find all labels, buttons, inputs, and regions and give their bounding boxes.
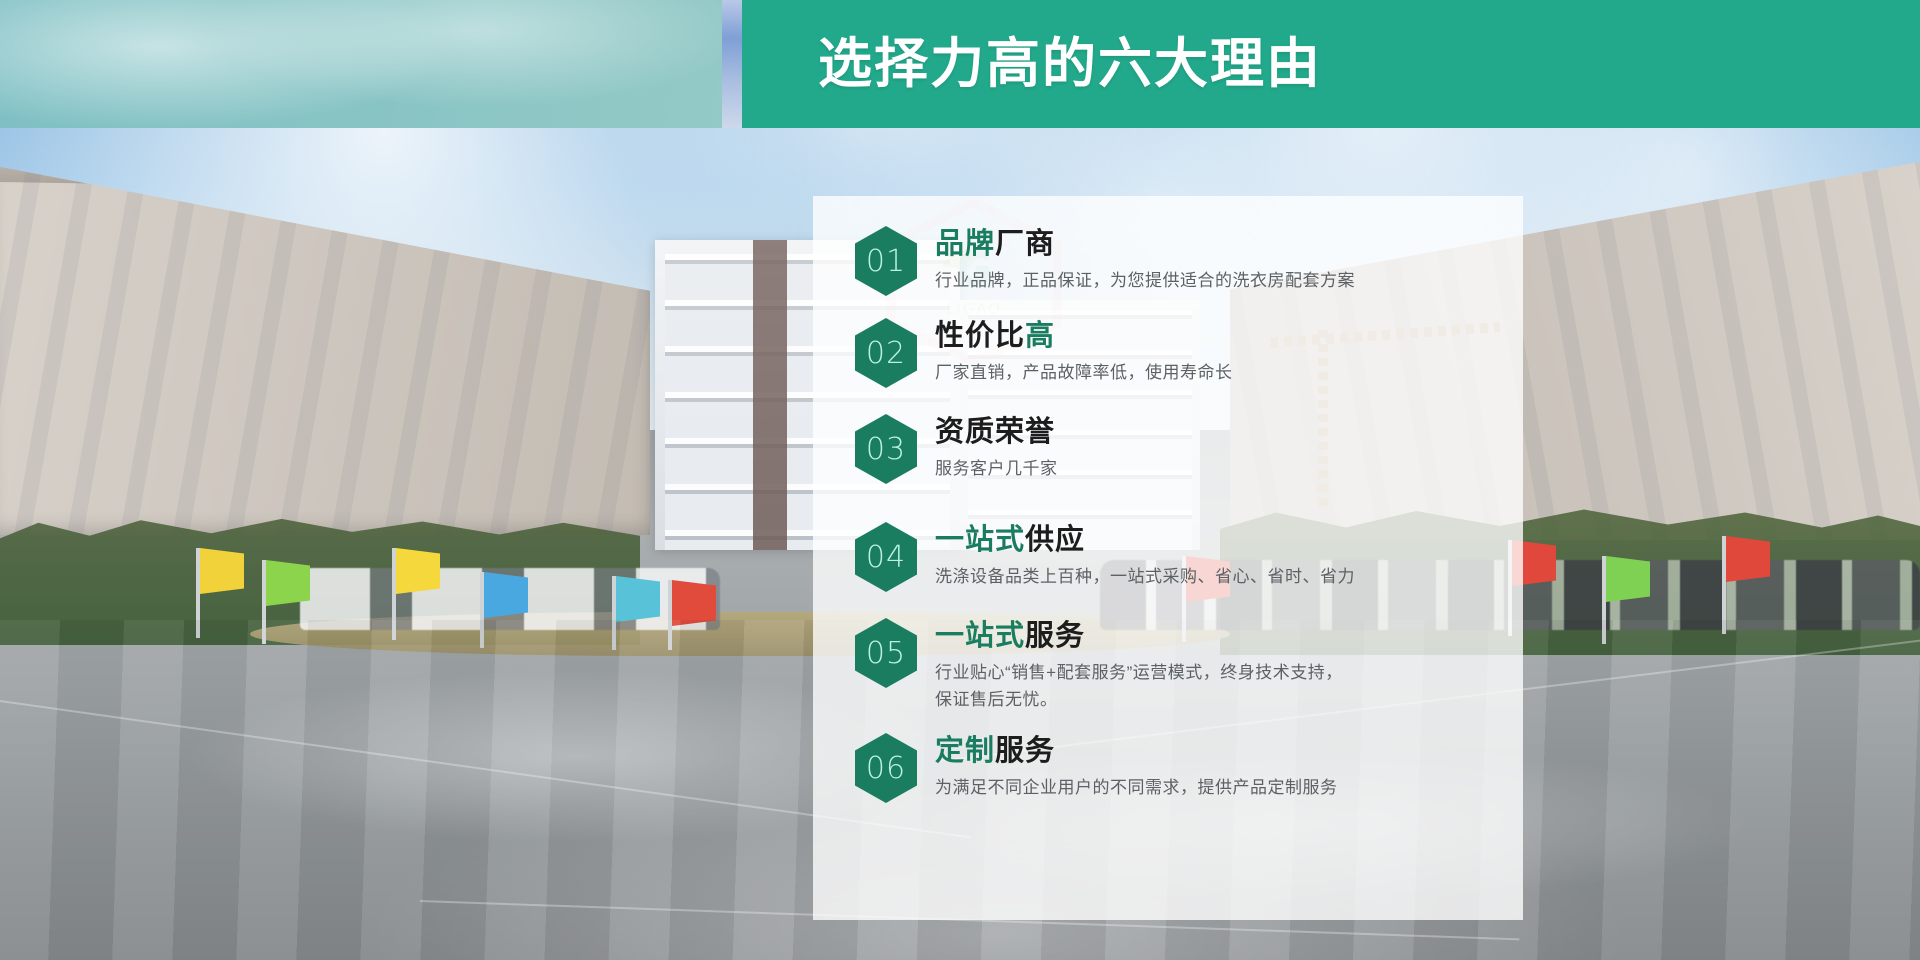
feature-number-badge-02: 02 — [855, 318, 917, 388]
feature-title-05: 一站式服务 — [935, 616, 1499, 656]
feature-content-01: 品牌厂商 行业品牌，正品保证，为您提供适合的洗衣房配套方案 — [935, 222, 1499, 294]
feature-desc-line: 服务客户几千家 — [935, 455, 1499, 482]
feature-item-06[interactable]: 06 定制服务 为满足不同企业用户的不同需求，提供产品定制服务 — [855, 729, 1499, 803]
banner-sky-panel — [0, 0, 722, 128]
feature-title-06: 定制服务 — [935, 731, 1499, 771]
feature-title-04: 一站式供应 — [935, 520, 1499, 560]
spacer — [855, 592, 1499, 614]
tower-vertical-stripe — [753, 240, 787, 550]
header-banner: 选择力高的六大理由 — [0, 0, 1920, 128]
feature-number-04: 04 — [866, 540, 906, 575]
feature-title-plain-03: 资质荣誉 — [935, 416, 1055, 448]
flag-red-1 — [668, 580, 672, 650]
feature-title-plain-02: 性价比 — [935, 320, 1025, 352]
feature-item-05[interactable]: 05 一站式服务 行业贴心“销售+配套服务”运营模式，终身技术支持， 保证售后无… — [855, 614, 1499, 713]
feature-title-plain-05: 服务 — [1025, 620, 1085, 652]
feature-title-accent-04: 一站式 — [935, 524, 1025, 556]
flag-green-1 — [262, 560, 266, 644]
feature-content-02: 性价比高 厂家直销，产品故障率低，使用寿命长 — [935, 314, 1499, 386]
spacer — [855, 484, 1499, 518]
flag-blue-1 — [480, 572, 484, 648]
feature-desc-line: 为满足不同企业用户的不同需求，提供产品定制服务 — [935, 774, 1499, 801]
feature-content-06: 定制服务 为满足不同企业用户的不同需求，提供产品定制服务 — [935, 729, 1499, 801]
spacer — [855, 713, 1499, 729]
flag-yellow-1 — [196, 548, 200, 638]
feature-title-accent-02: 高 — [1025, 320, 1055, 352]
feature-number-badge-05: 05 — [855, 618, 917, 688]
feature-title-03: 资质荣誉 — [935, 412, 1499, 452]
feature-desc-06: 为满足不同企业用户的不同需求，提供产品定制服务 — [935, 774, 1499, 801]
feature-number-03: 03 — [866, 432, 906, 467]
feature-number-badge-01: 01 — [855, 226, 917, 296]
feature-title-plain-01: 厂商 — [995, 228, 1055, 260]
feature-content-04: 一站式供应 洗涤设备品类上百种，一站式采购、省心、省时、省力 — [935, 518, 1499, 590]
feature-item-04[interactable]: 04 一站式供应 洗涤设备品类上百种，一站式采购、省心、省时、省力 — [855, 518, 1499, 592]
feature-number-badge-06: 06 — [855, 733, 917, 803]
feature-title-plain-04: 供应 — [1025, 524, 1085, 556]
feature-desc-04: 洗涤设备品类上百种，一站式采购、省心、省时、省力 — [935, 563, 1499, 590]
feature-desc-line: 厂家直销，产品故障率低，使用寿命长 — [935, 359, 1499, 386]
feature-item-03[interactable]: 03 资质荣誉 服务客户几千家 — [855, 410, 1499, 484]
features-panel: 01 品牌厂商 行业品牌，正品保证，为您提供适合的洗衣房配套方案 02 性价比高 — [813, 196, 1523, 920]
feature-desc-line: 洗涤设备品类上百种，一站式采购、省心、省时、省力 — [935, 563, 1499, 590]
feature-desc-line: 行业贴心“销售+配套服务”运营模式，终身技术支持， — [935, 659, 1499, 686]
feature-desc-03: 服务客户几千家 — [935, 455, 1499, 482]
feature-number-05: 05 — [866, 636, 906, 671]
flag-green-2 — [1602, 556, 1606, 644]
flag-yellow-2 — [392, 548, 396, 640]
feature-desc-01: 行业品牌，正品保证，为您提供适合的洗衣房配套方案 — [935, 267, 1499, 294]
feature-number-02: 02 — [866, 336, 906, 371]
feature-title-01: 品牌厂商 — [935, 224, 1499, 264]
flag-red-4 — [1722, 536, 1726, 634]
feature-title-accent-05: 一站式 — [935, 620, 1025, 652]
feature-title-accent-01: 品牌 — [935, 228, 995, 260]
feature-number-01: 01 — [866, 244, 906, 279]
flag-cyan-1 — [612, 576, 616, 650]
feature-title-accent-06: 定制 — [935, 735, 995, 767]
feature-title-plain-06: 服务 — [995, 735, 1055, 767]
feature-item-01[interactable]: 01 品牌厂商 行业品牌，正品保证，为您提供适合的洗衣房配套方案 — [855, 222, 1499, 296]
feature-number-06: 06 — [866, 751, 906, 786]
feature-desc-line: 保证售后无忧。 — [935, 686, 1499, 713]
feature-item-02[interactable]: 02 性价比高 厂家直销，产品故障率低，使用寿命长 — [855, 314, 1499, 388]
feature-number-badge-04: 04 — [855, 522, 917, 592]
feature-desc-05: 行业贴心“销售+配套服务”运营模式，终身技术支持， 保证售后无忧。 — [935, 659, 1499, 713]
feature-content-03: 资质荣誉 服务客户几千家 — [935, 410, 1499, 482]
spacer — [855, 388, 1499, 410]
feature-desc-02: 厂家直销，产品故障率低，使用寿命长 — [935, 359, 1499, 386]
page-title: 选择力高的六大理由 — [818, 22, 1322, 106]
feature-desc-line: 行业品牌，正品保证，为您提供适合的洗衣房配套方案 — [935, 267, 1499, 294]
features-list: 01 品牌厂商 行业品牌，正品保证，为您提供适合的洗衣房配套方案 02 性价比高 — [813, 196, 1523, 920]
banner-divider-strip — [722, 0, 742, 128]
feature-content-05: 一站式服务 行业贴心“销售+配套服务”运营模式，终身技术支持， 保证售后无忧。 — [935, 614, 1499, 713]
spacer — [855, 296, 1499, 314]
feature-title-02: 性价比高 — [935, 316, 1499, 356]
feature-number-badge-03: 03 — [855, 414, 917, 484]
